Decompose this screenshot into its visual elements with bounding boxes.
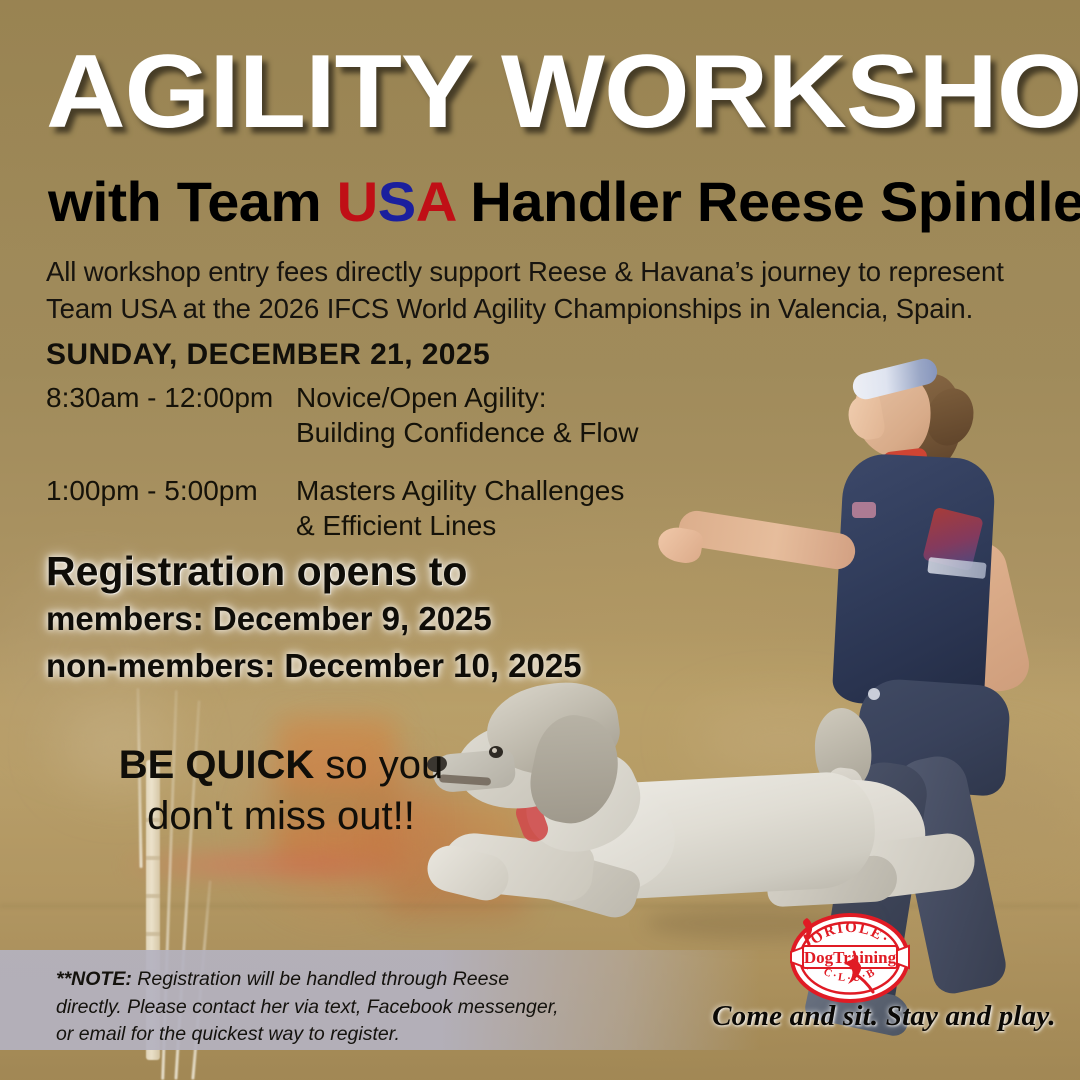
schedule-desc-line: Novice/Open Agility: xyxy=(296,380,638,415)
intro-paragraph: All workshop entry fees directly support… xyxy=(46,254,1046,327)
note-label: **NOTE: xyxy=(56,968,132,990)
cta-emphasis: BE QUICK xyxy=(119,743,315,787)
cta-rest: so you xyxy=(314,743,443,787)
subtitle-after: Handler Reese Spindle xyxy=(455,170,1080,233)
cta-line-2: don't miss out!! xyxy=(46,791,516,842)
call-to-action: BE QUICK so you don't miss out!! xyxy=(46,740,516,842)
schedule-desc-line: Building Confidence & Flow xyxy=(296,415,638,450)
club-tagline: Come and sit. Stay and play. xyxy=(688,1000,1080,1033)
flyer-subtitle: with Team USA Handler Reese Spindle xyxy=(48,174,1080,230)
note-body: Registration will be handled through Ree… xyxy=(56,968,559,1045)
subtitle-before: with Team xyxy=(48,170,337,233)
schedule-desc-line: & Efficient Lines xyxy=(296,508,624,543)
event-date-heading: SUNDAY, DECEMBER 21, 2025 xyxy=(46,338,490,372)
usa-letter-s: S xyxy=(378,170,416,233)
registration-heading: Registration opens to xyxy=(46,550,686,593)
cta-line-1: BE QUICK so you xyxy=(46,740,516,791)
registration-members-date: members: December 9, 2025 xyxy=(46,599,686,639)
oriole-dog-training-club-logo: ORIOLE· C·L·U·B DogTraining xyxy=(789,912,911,1004)
flyer-content: AGILITY WORKSHOPS with Team USA Handler … xyxy=(0,0,1080,1080)
schedule-list: 8:30am - 12:00pm Novice/Open Agility: Bu… xyxy=(46,380,726,565)
flyer-title: AGILITY WORKSHOPS xyxy=(46,44,1080,142)
usa-letter-u: U xyxy=(337,170,378,233)
registration-block: Registration opens to members: December … xyxy=(46,550,686,686)
schedule-time: 8:30am - 12:00pm xyxy=(46,380,296,451)
schedule-row: 8:30am - 12:00pm Novice/Open Agility: Bu… xyxy=(46,380,726,451)
schedule-description: Novice/Open Agility: Building Confidence… xyxy=(296,380,638,451)
schedule-time: 1:00pm - 5:00pm xyxy=(46,473,296,544)
flyer-canvas: AGILITY WORKSHOPS with Team USA Handler … xyxy=(0,0,1080,1080)
usa-letter-a: A xyxy=(416,170,455,233)
schedule-row: 1:00pm - 5:00pm Masters Agility Challeng… xyxy=(46,473,726,544)
registration-note: **NOTE: Registration will be handled thr… xyxy=(56,966,576,1049)
schedule-description: Masters Agility Challenges & Efficient L… xyxy=(296,473,624,544)
schedule-desc-line: Masters Agility Challenges xyxy=(296,473,624,508)
registration-nonmembers-date: non-members: December 10, 2025 xyxy=(46,646,686,686)
